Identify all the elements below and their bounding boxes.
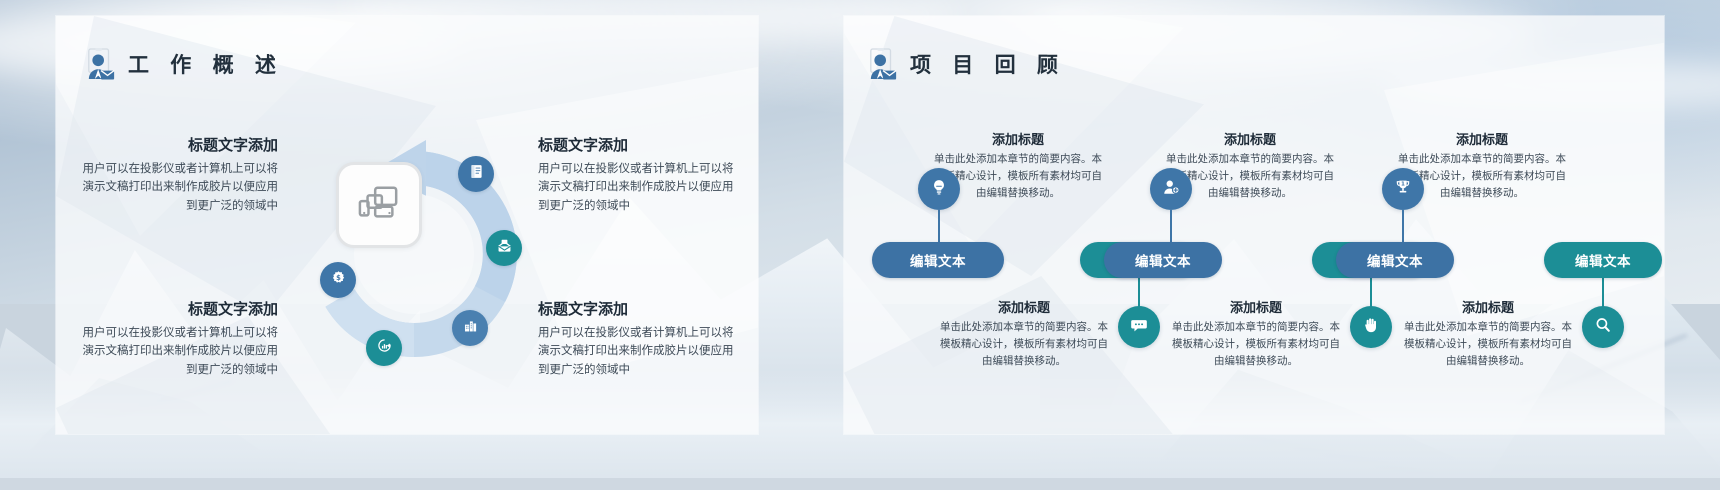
timeline-node-5[interactable]: 1 <box>1382 168 1424 210</box>
buildings-icon <box>462 317 479 339</box>
pill-button-6[interactable]: 编辑文本 <box>1544 242 1662 278</box>
trophy-icon: 1 <box>1393 177 1413 202</box>
add-user-icon <box>1161 177 1181 202</box>
node-mail[interactable] <box>486 230 522 266</box>
mail-stack-icon <box>496 237 513 259</box>
item-title: 添加标题 <box>1172 297 1340 316</box>
timeline-stem-6 <box>1602 278 1604 308</box>
item-title: 添加标题 <box>1404 297 1572 316</box>
item-body: 单击此处添加本章节的简要内容。本模板精心设计，模板所有素材均可自由编辑替换移动。 <box>1172 319 1340 370</box>
node-chart-refresh[interactable] <box>366 330 402 366</box>
multi-device-icon <box>356 182 402 229</box>
timeline-item-6: 添加标题 单击此处添加本章节的简要内容。本模板精心设计，模板所有素材均可自由编辑… <box>1436 16 1616 434</box>
search-icon <box>1593 315 1613 340</box>
block-body: 用户可以在投影仪或者计算机上可以将演示文稿打印出来制作成胶片以便应用到更广泛的领… <box>78 323 278 379</box>
person-card-icon <box>86 48 116 80</box>
chart-refresh-icon <box>376 337 393 359</box>
svg-text:$: $ <box>336 274 341 282</box>
node-notebook[interactable] <box>458 156 494 192</box>
notebook-icon <box>468 163 485 185</box>
item-body: 单击此处添加本章节的简要内容。本模板精心设计，模板所有素材均可自由编辑替换移动。 <box>1404 319 1572 370</box>
block-body: 用户可以在投影仪或者计算机上可以将演示文稿打印出来制作成胶片以便应用到更广泛的领… <box>78 159 278 215</box>
block-title: 标题文字添加 <box>78 136 278 155</box>
text-block-bottom-left: 标题文字添加 用户可以在投影仪或者计算机上可以将演示文稿打印出来制作成胶片以便应… <box>78 300 278 379</box>
item-body: 单击此处添加本章节的简要内容。本模板精心设计，模板所有素材均可自由编辑替换移动。 <box>940 319 1108 370</box>
block-title: 标题文字添加 <box>538 300 738 319</box>
timeline-text-2: 添加标题 单击此处添加本章节的简要内容。本模板精心设计，模板所有素材均可自由编辑… <box>940 297 1108 370</box>
bottom-bar <box>0 478 1720 490</box>
timeline-stem-3 <box>1170 210 1172 242</box>
slide-header-work-overview: 工 作 概 述 <box>86 48 283 80</box>
timeline-stem-5 <box>1402 210 1404 242</box>
block-title: 标题文字添加 <box>538 136 738 155</box>
timeline-text-6: 添加标题 单击此处添加本章节的简要内容。本模板精心设计，模板所有素材均可自由编辑… <box>1404 297 1572 370</box>
text-block-top-left: 标题文字添加 用户可以在投影仪或者计算机上可以将演示文稿打印出来制作成胶片以便应… <box>78 136 278 215</box>
slide-project-review: 项 目 回 顾 添加标题 单击此处添加本章节的简要内容。本模板精心设计，模板所有… <box>844 16 1664 434</box>
page-title: 工 作 概 述 <box>128 49 283 79</box>
node-coin[interactable]: $ <box>320 262 356 298</box>
timeline-node-3[interactable] <box>1150 168 1192 210</box>
block-title: 标题文字添加 <box>78 300 278 319</box>
timeline-text-4: 添加标题 单击此处添加本章节的简要内容。本模板精心设计，模板所有素材均可自由编辑… <box>1172 297 1340 370</box>
block-body: 用户可以在投影仪或者计算机上可以将演示文稿打印出来制作成胶片以便应用到更广泛的领… <box>538 323 738 379</box>
cycle-diagram: $ <box>294 134 534 374</box>
text-block-bottom-right: 标题文字添加 用户可以在投影仪或者计算机上可以将演示文稿打印出来制作成胶片以便应… <box>538 300 738 379</box>
node-buildings[interactable] <box>452 310 488 346</box>
timeline-node-1[interactable] <box>918 168 960 210</box>
center-card <box>336 162 422 248</box>
coin-dollar-icon: $ <box>330 269 347 291</box>
block-body: 用户可以在投影仪或者计算机上可以将演示文稿打印出来制作成胶片以便应用到更广泛的领… <box>538 159 738 215</box>
lightbulb-icon <box>929 177 949 202</box>
slide-work-overview: 工 作 概 述 <box>56 16 758 434</box>
timeline-stem-1 <box>938 210 940 242</box>
presentation-canvas: 工 作 概 述 <box>0 0 1720 490</box>
timeline-node-6[interactable] <box>1582 306 1624 348</box>
svg-text:1: 1 <box>1401 181 1405 187</box>
item-title: 添加标题 <box>940 297 1108 316</box>
text-block-top-right: 标题文字添加 用户可以在投影仪或者计算机上可以将演示文稿打印出来制作成胶片以便应… <box>538 136 738 215</box>
